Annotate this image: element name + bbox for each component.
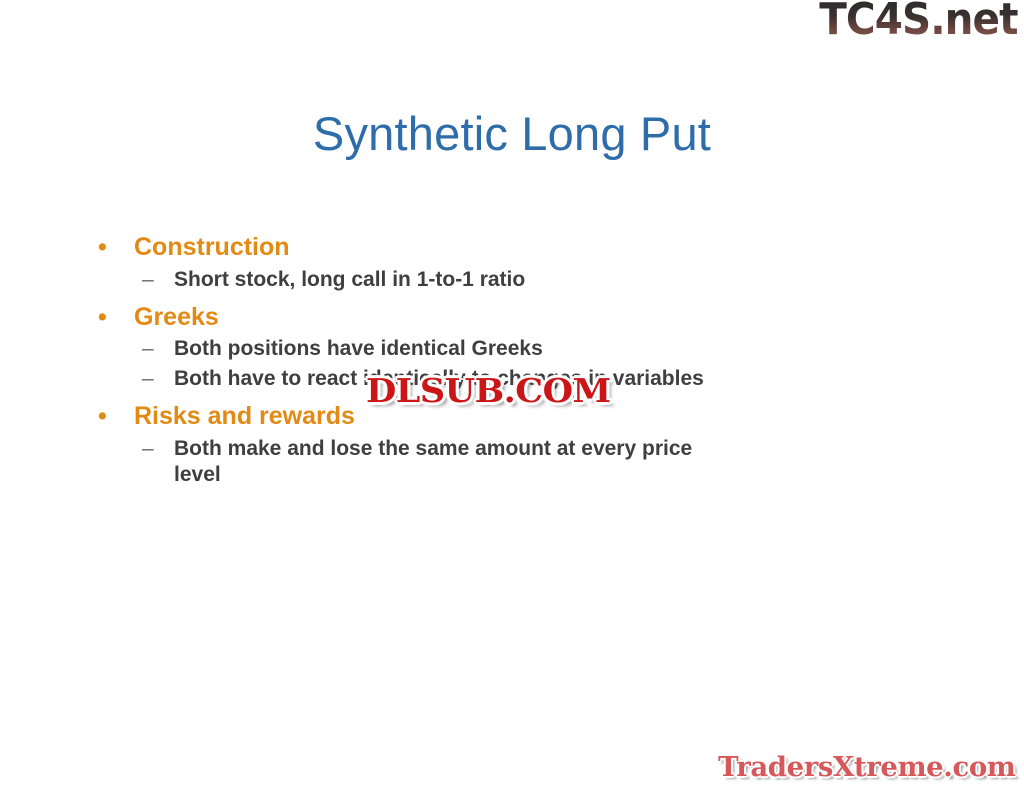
bullet-level1: • Construction	[92, 232, 792, 263]
outline-group: • Risks and rewards – Both make and lose…	[92, 401, 792, 488]
page-title: Synthetic Long Put	[0, 108, 1024, 160]
bullet-level1-label: Construction	[134, 233, 290, 261]
bullet-level2: – Short stock, long call in 1-to-1 ratio	[92, 267, 734, 293]
outline-body: • Construction – Short stock, long call …	[92, 232, 792, 497]
bullet-level2-label: Both positions have identical Greeks	[174, 337, 543, 360]
bullet-dash-icon: –	[142, 436, 154, 462]
bullet-level2-label: Short stock, long call in 1-to-1 ratio	[174, 268, 525, 291]
bullet-level2: – Both make and lose the same amount at …	[92, 436, 734, 488]
bullet-dot-icon: •	[98, 232, 107, 263]
bullet-dot-icon: •	[98, 302, 107, 333]
bullet-level1: • Greeks	[92, 302, 792, 333]
watermark-tc4s: TC4S.net	[820, 0, 1018, 42]
bullet-level1-label: Risks and rewards	[134, 402, 355, 430]
watermark-tradersxtreme: TradersXtreme.com	[719, 752, 1016, 783]
outline-group: • Construction – Short stock, long call …	[92, 232, 792, 293]
slide-canvas: Synthetic Long Put • Construction – Shor…	[0, 0, 1024, 791]
bullet-dash-icon: –	[142, 336, 154, 362]
bullet-level2-label: Both make and lose the same amount at ev…	[174, 437, 692, 486]
watermark-dlsub: DLSUB.COM	[366, 371, 611, 410]
bullet-dot-icon: •	[98, 401, 107, 432]
bullet-level1-label: Greeks	[134, 303, 219, 331]
bullet-dash-icon: –	[142, 366, 154, 392]
bullet-dash-icon: –	[142, 267, 154, 293]
bullet-level2: – Both positions have identical Greeks	[92, 336, 734, 362]
